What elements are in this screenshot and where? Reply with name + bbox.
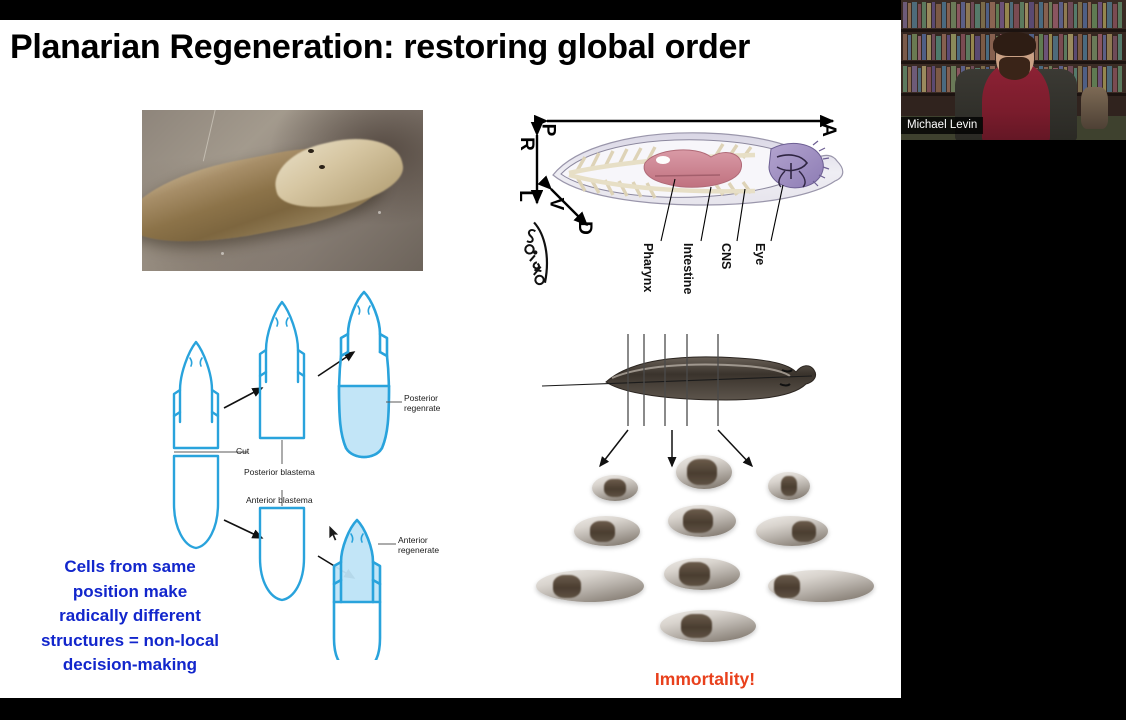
- webcam-video-panel[interactable]: Michael Levin: [901, 0, 1126, 140]
- worm-fragment: [660, 610, 756, 642]
- regen-label-anterior-blastema: Anterior blastema: [246, 495, 313, 505]
- screen-root: Planarian Regeneration: restoring global…: [0, 0, 1126, 720]
- participant-name-label: Michael Levin: [901, 117, 983, 134]
- callout-line: decision-making: [12, 653, 248, 678]
- fragment-gut: [683, 509, 713, 533]
- photo-speck: [378, 211, 381, 214]
- axis-label-posterior: P: [536, 124, 558, 137]
- callout-line: structures = non-local: [12, 629, 248, 654]
- axis-label-ventral: V: [544, 198, 566, 211]
- fragment-gut: [774, 575, 799, 597]
- worm-fragment: [676, 455, 732, 489]
- photo-scratch: [203, 110, 216, 161]
- fragment-gut: [792, 521, 816, 542]
- axis-label-dorsal: D: [573, 221, 595, 235]
- presentation-slide: Planarian Regeneration: restoring global…: [0, 20, 901, 698]
- planarian-photo: [142, 110, 423, 271]
- worm-eye-left: [308, 149, 314, 153]
- worm-eye-right: [319, 165, 325, 169]
- planarian-anatomy-diagram: P A R L V D Pharynx Intestine CNS Eye: [515, 113, 865, 298]
- callout-line: position make: [12, 580, 248, 605]
- fragment-gut: [681, 614, 712, 638]
- fragment-gut: [679, 562, 709, 586]
- fragment-gut: [553, 575, 581, 598]
- worm-fragment: [536, 570, 644, 602]
- photo-speck: [221, 252, 224, 255]
- axis-label-anterior: A: [817, 123, 839, 137]
- regen-label-posterior-regenerate: Posterior regenrate: [404, 393, 460, 413]
- presenter-hair: [993, 32, 1036, 56]
- fragment-gut: [687, 459, 717, 485]
- callout-line: radically different: [12, 604, 248, 629]
- presenter-beard: [999, 57, 1031, 79]
- regen-label-cut: Cut: [236, 446, 249, 456]
- fragment-gut: [604, 479, 626, 498]
- worm-fragment: [768, 570, 874, 602]
- organ-label-pharynx: Pharynx: [641, 243, 655, 292]
- worm-fragment: [668, 505, 736, 537]
- fragment-body: [536, 570, 644, 602]
- worm-fragment: [756, 516, 828, 546]
- axis-label-left: L: [514, 190, 536, 202]
- organ-label-eye: Eye: [753, 243, 767, 265]
- organ-label-intestine: Intestine: [681, 243, 695, 294]
- axis-label-right: R: [515, 137, 537, 151]
- fragment-gut: [781, 476, 798, 495]
- fragmentation-diagram: Immortality!: [520, 320, 890, 695]
- callout-text: Cells from same position make radically …: [12, 555, 248, 678]
- worm-fragment: [574, 516, 640, 546]
- regen-label-anterior-regenerate: Anterior regenerate: [398, 535, 454, 555]
- worm-fragment: [664, 558, 740, 590]
- callout-line: Cells from same: [12, 555, 248, 580]
- regen-label-posterior-blastema: Posterior blastema: [244, 467, 315, 477]
- worm-fragment: [768, 472, 810, 500]
- djembe-drum: [1081, 87, 1108, 129]
- mouse-cursor: [329, 525, 341, 543]
- worm-fragment: [592, 475, 638, 501]
- immortality-label: Immortality!: [520, 669, 890, 690]
- organ-label-cns: CNS: [719, 243, 733, 269]
- page-title: Planarian Regeneration: restoring global…: [10, 28, 895, 67]
- fragment-gut: [590, 521, 615, 542]
